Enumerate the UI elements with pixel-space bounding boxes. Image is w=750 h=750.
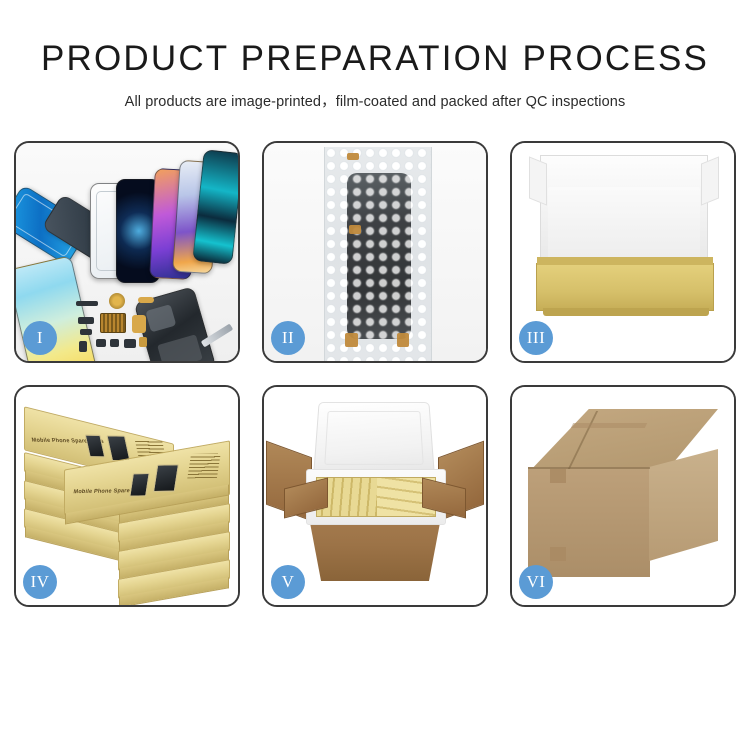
part-button-a	[96, 339, 106, 347]
foam-pad	[548, 187, 700, 263]
part-speaker-mesh	[76, 301, 98, 306]
process-step-1: I	[14, 141, 240, 363]
process-step-grid: I II III	[14, 141, 736, 607]
box-stack: Mobile Phone Spare Parts Mobile Phone Sp…	[24, 407, 232, 587]
carton-side-face	[649, 449, 718, 561]
wrapped-screen-assembly	[347, 173, 411, 339]
carton-front-face	[528, 467, 650, 577]
box-thumb-front-b	[153, 464, 179, 492]
product-preparation-infographic: PRODUCT PREPARATION PROCESS All products…	[0, 0, 750, 750]
packed-boxes-rows	[316, 477, 436, 517]
page-title: PRODUCT PREPARATION PROCESS	[0, 40, 750, 79]
part-button-b	[110, 339, 119, 347]
carton-tape-lower	[550, 547, 566, 561]
part-module-a	[124, 339, 136, 348]
step-badge-5: V	[271, 565, 305, 599]
box-spec-lines-front	[187, 454, 220, 479]
process-step-4: Mobile Phone Spare Parts Mobile Phone Sp…	[14, 385, 240, 607]
part-sim-tray	[79, 341, 87, 352]
carton-seam-front	[528, 467, 650, 469]
bubble-wrap-bag	[324, 147, 432, 361]
part-connector-b	[80, 329, 92, 335]
header: PRODUCT PREPARATION PROCESS All products…	[0, 0, 750, 111]
khaki-box-base	[536, 263, 714, 311]
process-step-5: V	[262, 385, 488, 607]
tape-mark-bottom-left	[345, 333, 358, 347]
process-step-3: III	[510, 141, 736, 363]
carton-tape-top-strip	[571, 423, 647, 428]
part-camera-lens	[109, 293, 125, 309]
carton-tape-upper	[550, 469, 566, 483]
styrofoam-lid	[313, 402, 435, 475]
tape-mark-top	[347, 153, 359, 160]
part-flex-cable-b	[132, 315, 146, 333]
step-badge-1: I	[23, 321, 57, 355]
part-flex-cable-a	[138, 297, 154, 303]
spare-parts-cluster	[76, 293, 196, 363]
part-connector-a	[78, 317, 94, 324]
tape-mark-middle	[349, 225, 361, 234]
process-step-6: VI	[510, 385, 736, 607]
box-thumb-front-a	[129, 473, 149, 497]
process-step-2: II	[262, 141, 488, 363]
tape-mark-bottom-right	[397, 333, 409, 347]
step-badge-6: VI	[519, 565, 553, 599]
part-vibration-motor	[139, 337, 147, 347]
part-ic-array	[100, 313, 126, 333]
step-badge-2: II	[271, 321, 305, 355]
step-badge-4: IV	[23, 565, 57, 599]
step-badge-3: III	[519, 321, 553, 355]
page-subtitle: All products are image-printed，film-coat…	[0, 90, 750, 111]
